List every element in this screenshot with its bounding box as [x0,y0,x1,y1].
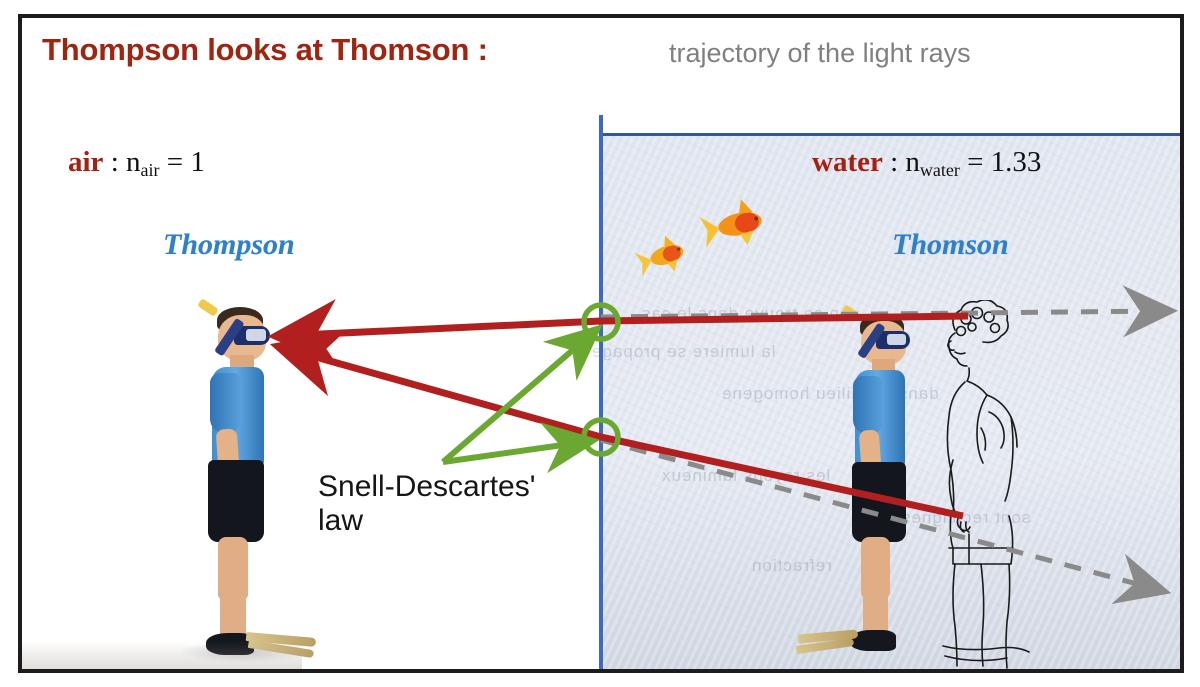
light-ray-upper-water [601,316,968,321]
light-ray-lower-air [280,347,601,437]
light-ray-lower-water [601,437,963,516]
diagram-canvas: on se trouve dans le cas la lumiere se p… [0,0,1200,687]
optics-ray-overlay [0,0,1200,687]
light-ray-upper-air [278,321,601,336]
virtual-ray-lower [601,440,1152,588]
